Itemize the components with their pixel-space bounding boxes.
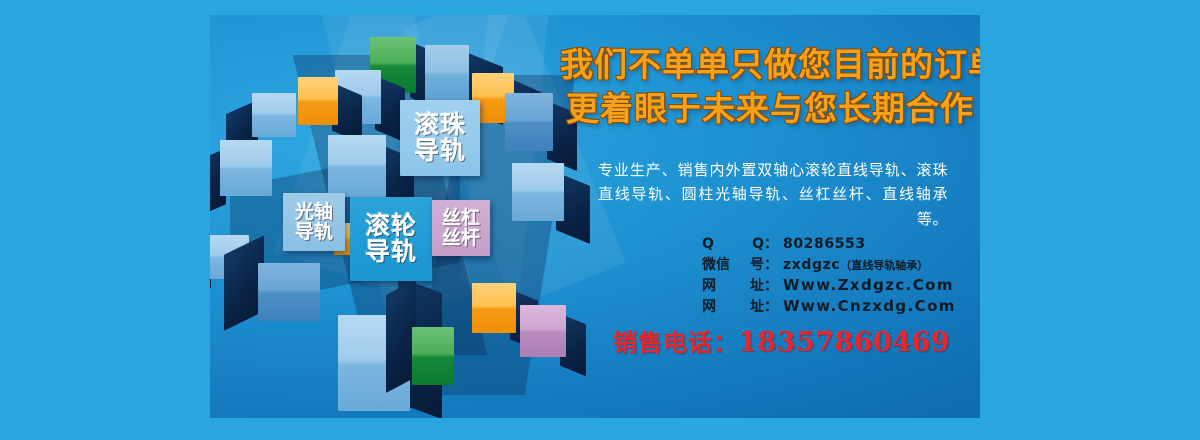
text-column: 我们不单单只做您目前的订单 更着眼于未来与您长期合作 专业生产、销售内外置双轴心…	[560, 15, 980, 418]
product-label-line2: 导轨	[365, 239, 417, 266]
product-label-line2: 导轨	[414, 138, 466, 165]
contact-value-qq: 80286553	[783, 236, 866, 252]
product-label-guangzhou-daogui[interactable]: 光轴 导轨	[283, 193, 345, 251]
cube-blue-right	[505, 93, 553, 151]
product-label-gunzhu-daogui[interactable]: 滚珠 导轨	[400, 100, 480, 176]
sales-phone-label: 销售电话：	[613, 329, 738, 357]
contact-label: 微信 号	[702, 254, 764, 274]
sales-phone-number: 18357860469	[738, 327, 950, 358]
contact-block: Q Q ： 80286553 微信 号 ： zxdgzc （直线导轨轴承）	[702, 233, 956, 317]
contact-label: Q Q	[702, 236, 764, 252]
product-label-line1: 滚轮	[365, 213, 417, 240]
cube-orange-bottom-right	[472, 283, 516, 333]
contact-value-website-2[interactable]: Www.Cnzxdg.Com	[783, 297, 956, 315]
product-label-line1: 滚珠	[414, 112, 466, 139]
contact-row-qq[interactable]: Q Q ： 80286553	[702, 233, 956, 254]
sales-phone[interactable]: 销售电话：18357860469	[613, 323, 950, 358]
contact-colon: ：	[764, 296, 778, 316]
headline-line-1: 我们不单单只做您目前的订单	[560, 43, 980, 87]
cube-blue-left	[252, 93, 296, 137]
product-label-gunlun-daogui[interactable]: 滚轮 导轨	[350, 197, 432, 281]
contact-value-wechat: zxdgzc	[783, 257, 840, 273]
headline-line-2: 更着眼于未来与您长期合作	[560, 87, 980, 131]
contact-label: 网 址	[702, 275, 764, 295]
headline: 我们不单单只做您目前的订单 更着眼于未来与您长期合作	[560, 43, 980, 130]
banner-panel: 滚珠 导轨 光轴 导轨 滚轮 导轨 丝杠 丝杆 我们不单单只做您目前的订单 更着…	[210, 15, 980, 418]
cube-green-bottom	[412, 327, 454, 385]
contact-colon: ：	[764, 275, 778, 295]
contact-value-website-1[interactable]: Www.Zxdgzc.Com	[783, 276, 954, 294]
promo-banner: 滚珠 导轨 光轴 导轨 滚轮 导轨 丝杠 丝杆 我们不单单只做您目前的订单 更着…	[0, 0, 1200, 440]
cube-cluster-graphic: 滚珠 导轨 光轴 导轨 滚轮 导轨 丝杠 丝杆	[210, 15, 570, 418]
contact-row-website-1[interactable]: 网 址 ： Www.Zxdgzc.Com	[702, 275, 956, 296]
cube-blue-far-right	[512, 163, 564, 221]
cube-blue-far-left	[220, 140, 272, 196]
cube-blue-top	[425, 45, 469, 103]
description-text: 专业生产、销售内外置双轴心滚轮直线导轨、滚珠直线导轨、圆柱光轴导轨、丝杠丝杆、直…	[598, 158, 948, 231]
contact-colon: ：	[764, 254, 778, 274]
contact-colon: ：	[764, 233, 778, 253]
product-label-line1: 光轴	[295, 202, 333, 222]
product-label-line2: 导轨	[295, 222, 333, 242]
contact-note-wechat: （直线导轨轴承）	[840, 257, 928, 273]
product-label-line2: 丝杆	[442, 228, 480, 248]
product-label-sigang-sigan[interactable]: 丝杠 丝杆	[432, 200, 490, 256]
product-label-line1: 丝杠	[442, 208, 480, 228]
contact-row-wechat[interactable]: 微信 号 ： zxdgzc （直线导轨轴承）	[702, 254, 956, 275]
cube-blue-lower	[258, 263, 320, 321]
cube-orange-left	[298, 77, 338, 125]
contact-label: 网 址	[702, 296, 764, 316]
cube-blue-center	[328, 135, 386, 197]
contact-row-website-2[interactable]: 网 址 ： Www.Cnzxdg.Com	[702, 296, 956, 317]
